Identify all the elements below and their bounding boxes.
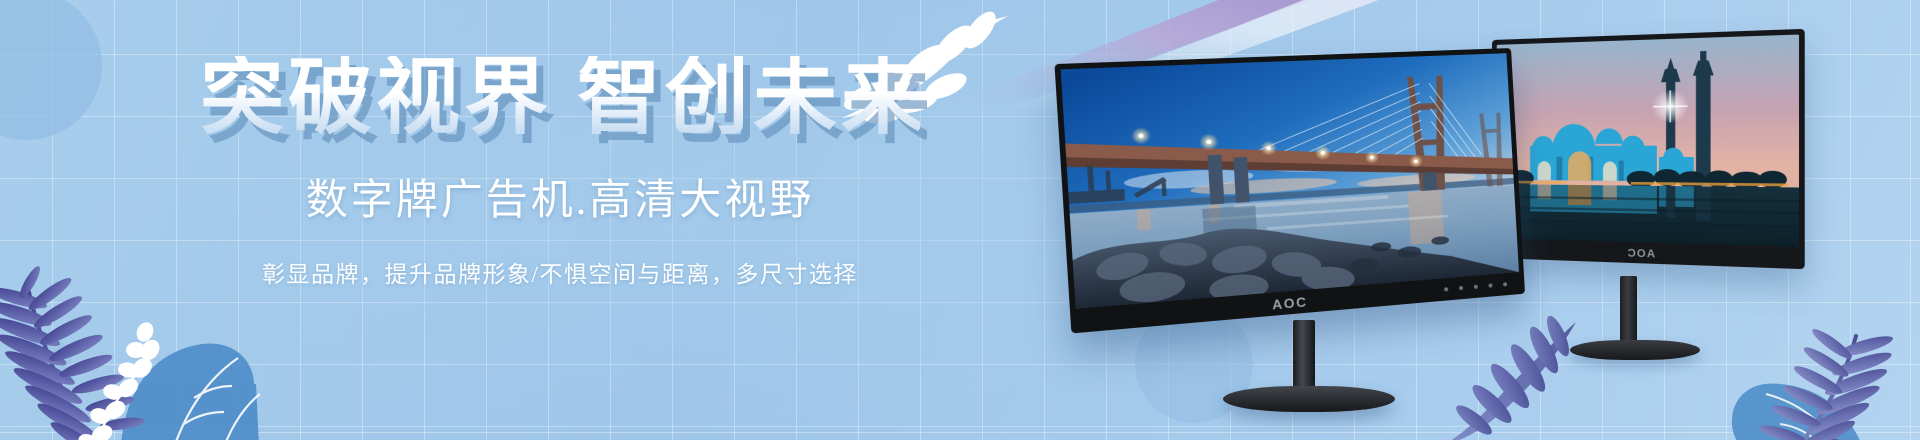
monitor-front-stand-neck: [1293, 320, 1315, 396]
page-title: 突破视界 智创未来: [200, 56, 920, 142]
decorative-circle-top-left: [0, 0, 102, 140]
monitor-front-stand-base: [1223, 386, 1395, 412]
monitor-front: AOC: [1088, 48, 1558, 408]
control-dot[interactable]: [1503, 282, 1507, 286]
monitor-control-buttons[interactable]: [1444, 282, 1507, 291]
monitor-back-stand-neck: [1620, 276, 1637, 344]
control-dot[interactable]: [1474, 285, 1478, 289]
control-dot[interactable]: [1459, 286, 1463, 290]
control-dot[interactable]: [1488, 283, 1492, 287]
monitor-front-screen: [1061, 53, 1519, 309]
aoc-logo-front: AOC: [1272, 294, 1308, 313]
monitor-front-bezel: AOC: [1054, 48, 1525, 333]
promo-banner: 突破视界 智创未来 数字牌广告机.高清大视野 彰显品牌，提升品牌形象/不惧空间与…: [0, 0, 1920, 440]
tagline: 彰显品牌，提升品牌形象/不惧空间与距离，多尺寸选择: [200, 255, 920, 289]
aoc-logo-back: AOC: [1627, 247, 1656, 261]
monitor-back-stand-base: [1570, 340, 1700, 360]
subheading: 数字牌广告机.高清大视野: [200, 166, 920, 227]
control-dot[interactable]: [1444, 287, 1448, 291]
decorative-circle-bottom-left: [18, 336, 72, 390]
banner-text-block: 突破视界 智创未来 数字牌广告机.高清大视野 彰显品牌，提升品牌形象/不惧空间与…: [200, 56, 920, 289]
